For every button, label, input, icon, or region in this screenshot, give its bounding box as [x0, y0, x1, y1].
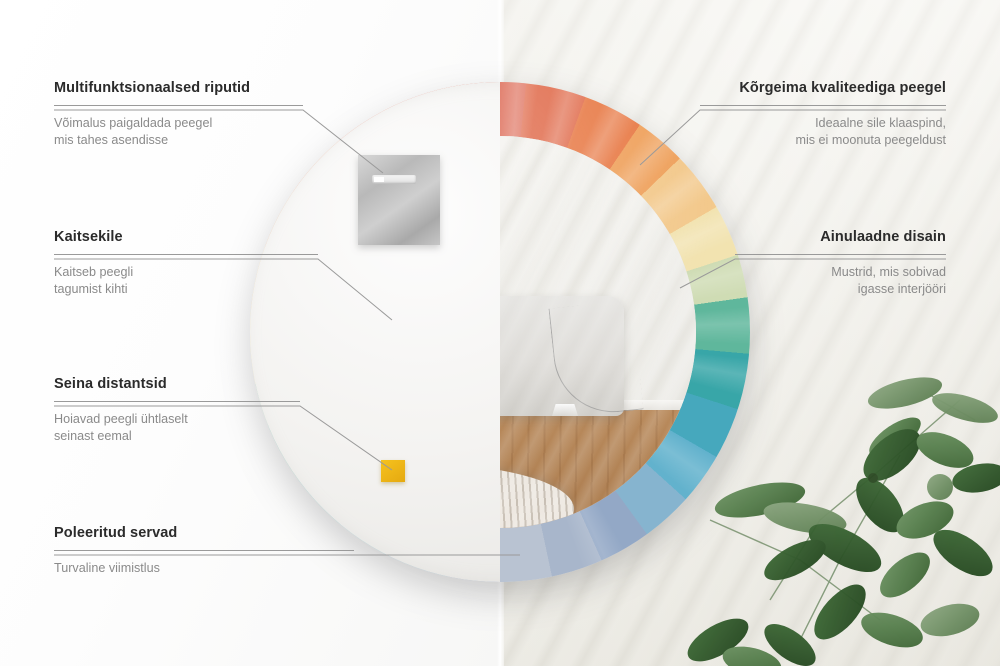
callout-kaitsekile: Kaitsekile Kaitseb peegli tagumist kihti	[54, 229, 318, 298]
callout-body: Kaitseb peegli tagumist kihti	[54, 264, 318, 298]
callout-title: Multifunktsionaalsed riputid	[54, 80, 303, 96]
callout-title: Poleeritud servad	[54, 525, 354, 541]
callout-body: Võimalus paigaldada peegel mis tahes ase…	[54, 115, 303, 149]
callout-rule	[54, 105, 303, 106]
callout-multifunktsionaalsed-riputid: Multifunktsionaalsed riputid Võimalus pa…	[54, 80, 303, 149]
callout-seina-distantsid: Seina distantsid Hoiavad peegli ühtlasel…	[54, 376, 300, 445]
callout-body: Ideaalne sile klaaspind, mis ei moonuta …	[700, 115, 946, 149]
callout-body: Turvaline viimistlus	[54, 560, 354, 577]
callout-ainulaadne-disain: Ainulaadne disain Mustrid, mis sobivad i…	[735, 229, 946, 298]
callout-rule	[54, 401, 300, 402]
callout-rule	[735, 254, 946, 255]
callout-title: Kaitsekile	[54, 229, 318, 245]
callout-body: Mustrid, mis sobivad igasse interjööri	[735, 264, 946, 298]
callout-rule	[54, 254, 318, 255]
callout-title: Kõrgeima kvaliteediga peegel	[700, 80, 946, 96]
callout-title: Ainulaadne disain	[735, 229, 946, 245]
callout-rule	[700, 105, 946, 106]
callout-title: Seina distantsid	[54, 376, 300, 392]
callout-poleeritud-servad: Poleeritud servad Turvaline viimistlus	[54, 525, 354, 577]
callout-korgeima-kvaliteediga-peegel: Kõrgeima kvaliteediga peegel Ideaalne si…	[700, 80, 946, 149]
infographic-canvas: Multifunktsionaalsed riputid Võimalus pa…	[0, 0, 1000, 666]
callout-rule	[54, 550, 354, 551]
callout-body: Hoiavad peegli ühtlaselt seinast eemal	[54, 411, 300, 445]
